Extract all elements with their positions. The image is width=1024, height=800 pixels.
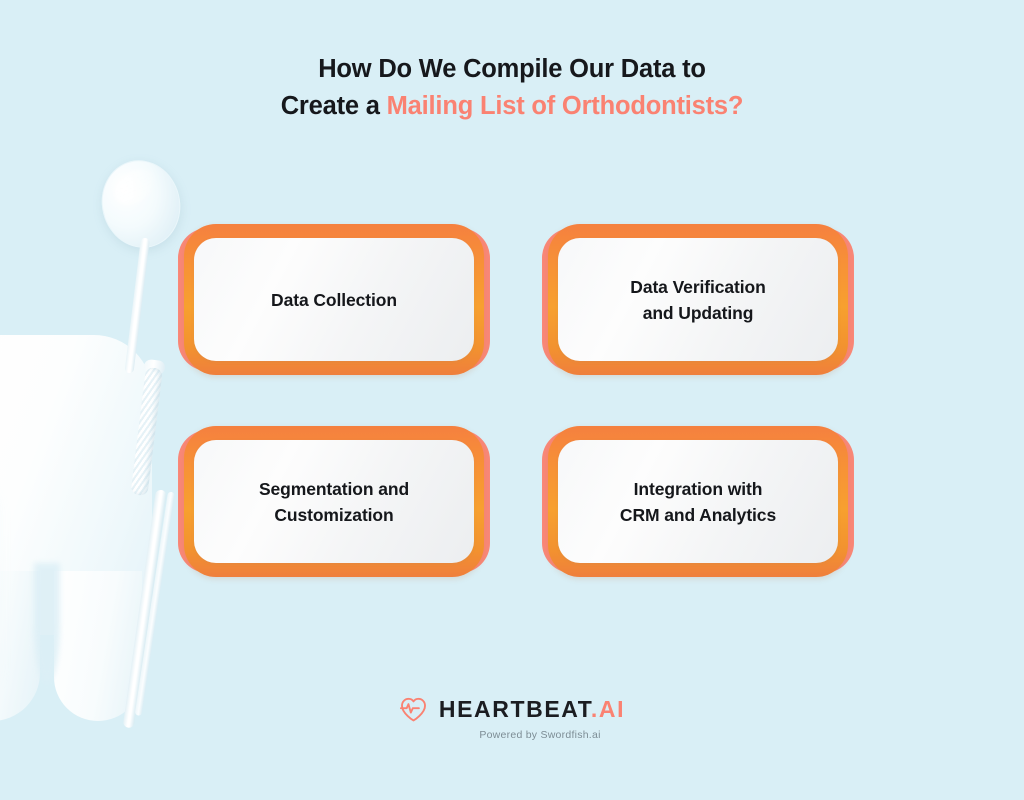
title-line-2: Create a Mailing List of Orthodontists? bbox=[0, 89, 1024, 123]
footer-branding: HEARTBEAT.AI Powered by Swordfish.ai bbox=[0, 696, 1024, 741]
title-line-2-plain: Create a bbox=[281, 92, 387, 120]
card-label: Data Verification and Updating bbox=[616, 274, 779, 326]
card-face: Integration with CRM and Analytics bbox=[558, 440, 838, 563]
card-face: Data Verification and Updating bbox=[558, 238, 838, 361]
card-label: Data Collection bbox=[257, 287, 411, 313]
logo-tagline: Powered by Swordfish.ai bbox=[479, 729, 600, 741]
step-card-integration[interactable]: Integration with CRM and Analytics bbox=[542, 430, 854, 573]
heartbeat-pulse-icon bbox=[399, 696, 428, 723]
logo-brand-suffix: .AI bbox=[591, 696, 625, 722]
title-line-1: How Do We Compile Our Data to bbox=[318, 55, 706, 83]
card-label: Segmentation and Customization bbox=[245, 476, 423, 528]
infographic-canvas: How Do We Compile Our Data to Create a M… bbox=[0, 0, 1024, 800]
card-face: Segmentation and Customization bbox=[194, 440, 474, 563]
mirror-grip bbox=[130, 367, 162, 496]
mirror-glint bbox=[108, 162, 161, 211]
card-label: Integration with CRM and Analytics bbox=[606, 476, 790, 528]
mirror-neck bbox=[124, 237, 150, 373]
logo-brand-main: HEARTBEAT bbox=[439, 696, 591, 722]
steps-grid: Data Collection Data Verification and Up… bbox=[178, 228, 854, 573]
tooth-root-gap bbox=[34, 563, 60, 683]
step-card-segmentation[interactable]: Segmentation and Customization bbox=[178, 430, 490, 573]
title-line-2-accent: Mailing List of Orthodontists? bbox=[387, 92, 744, 120]
page-title: How Do We Compile Our Data to Create a M… bbox=[0, 52, 1024, 123]
logo[interactable]: HEARTBEAT.AI bbox=[399, 696, 625, 723]
step-card-data-verification[interactable]: Data Verification and Updating bbox=[542, 228, 854, 371]
step-card-data-collection[interactable]: Data Collection bbox=[178, 228, 490, 371]
logo-wordmark: HEARTBEAT.AI bbox=[439, 698, 625, 721]
card-face: Data Collection bbox=[194, 238, 474, 361]
tooth-shadow bbox=[0, 485, 4, 695]
